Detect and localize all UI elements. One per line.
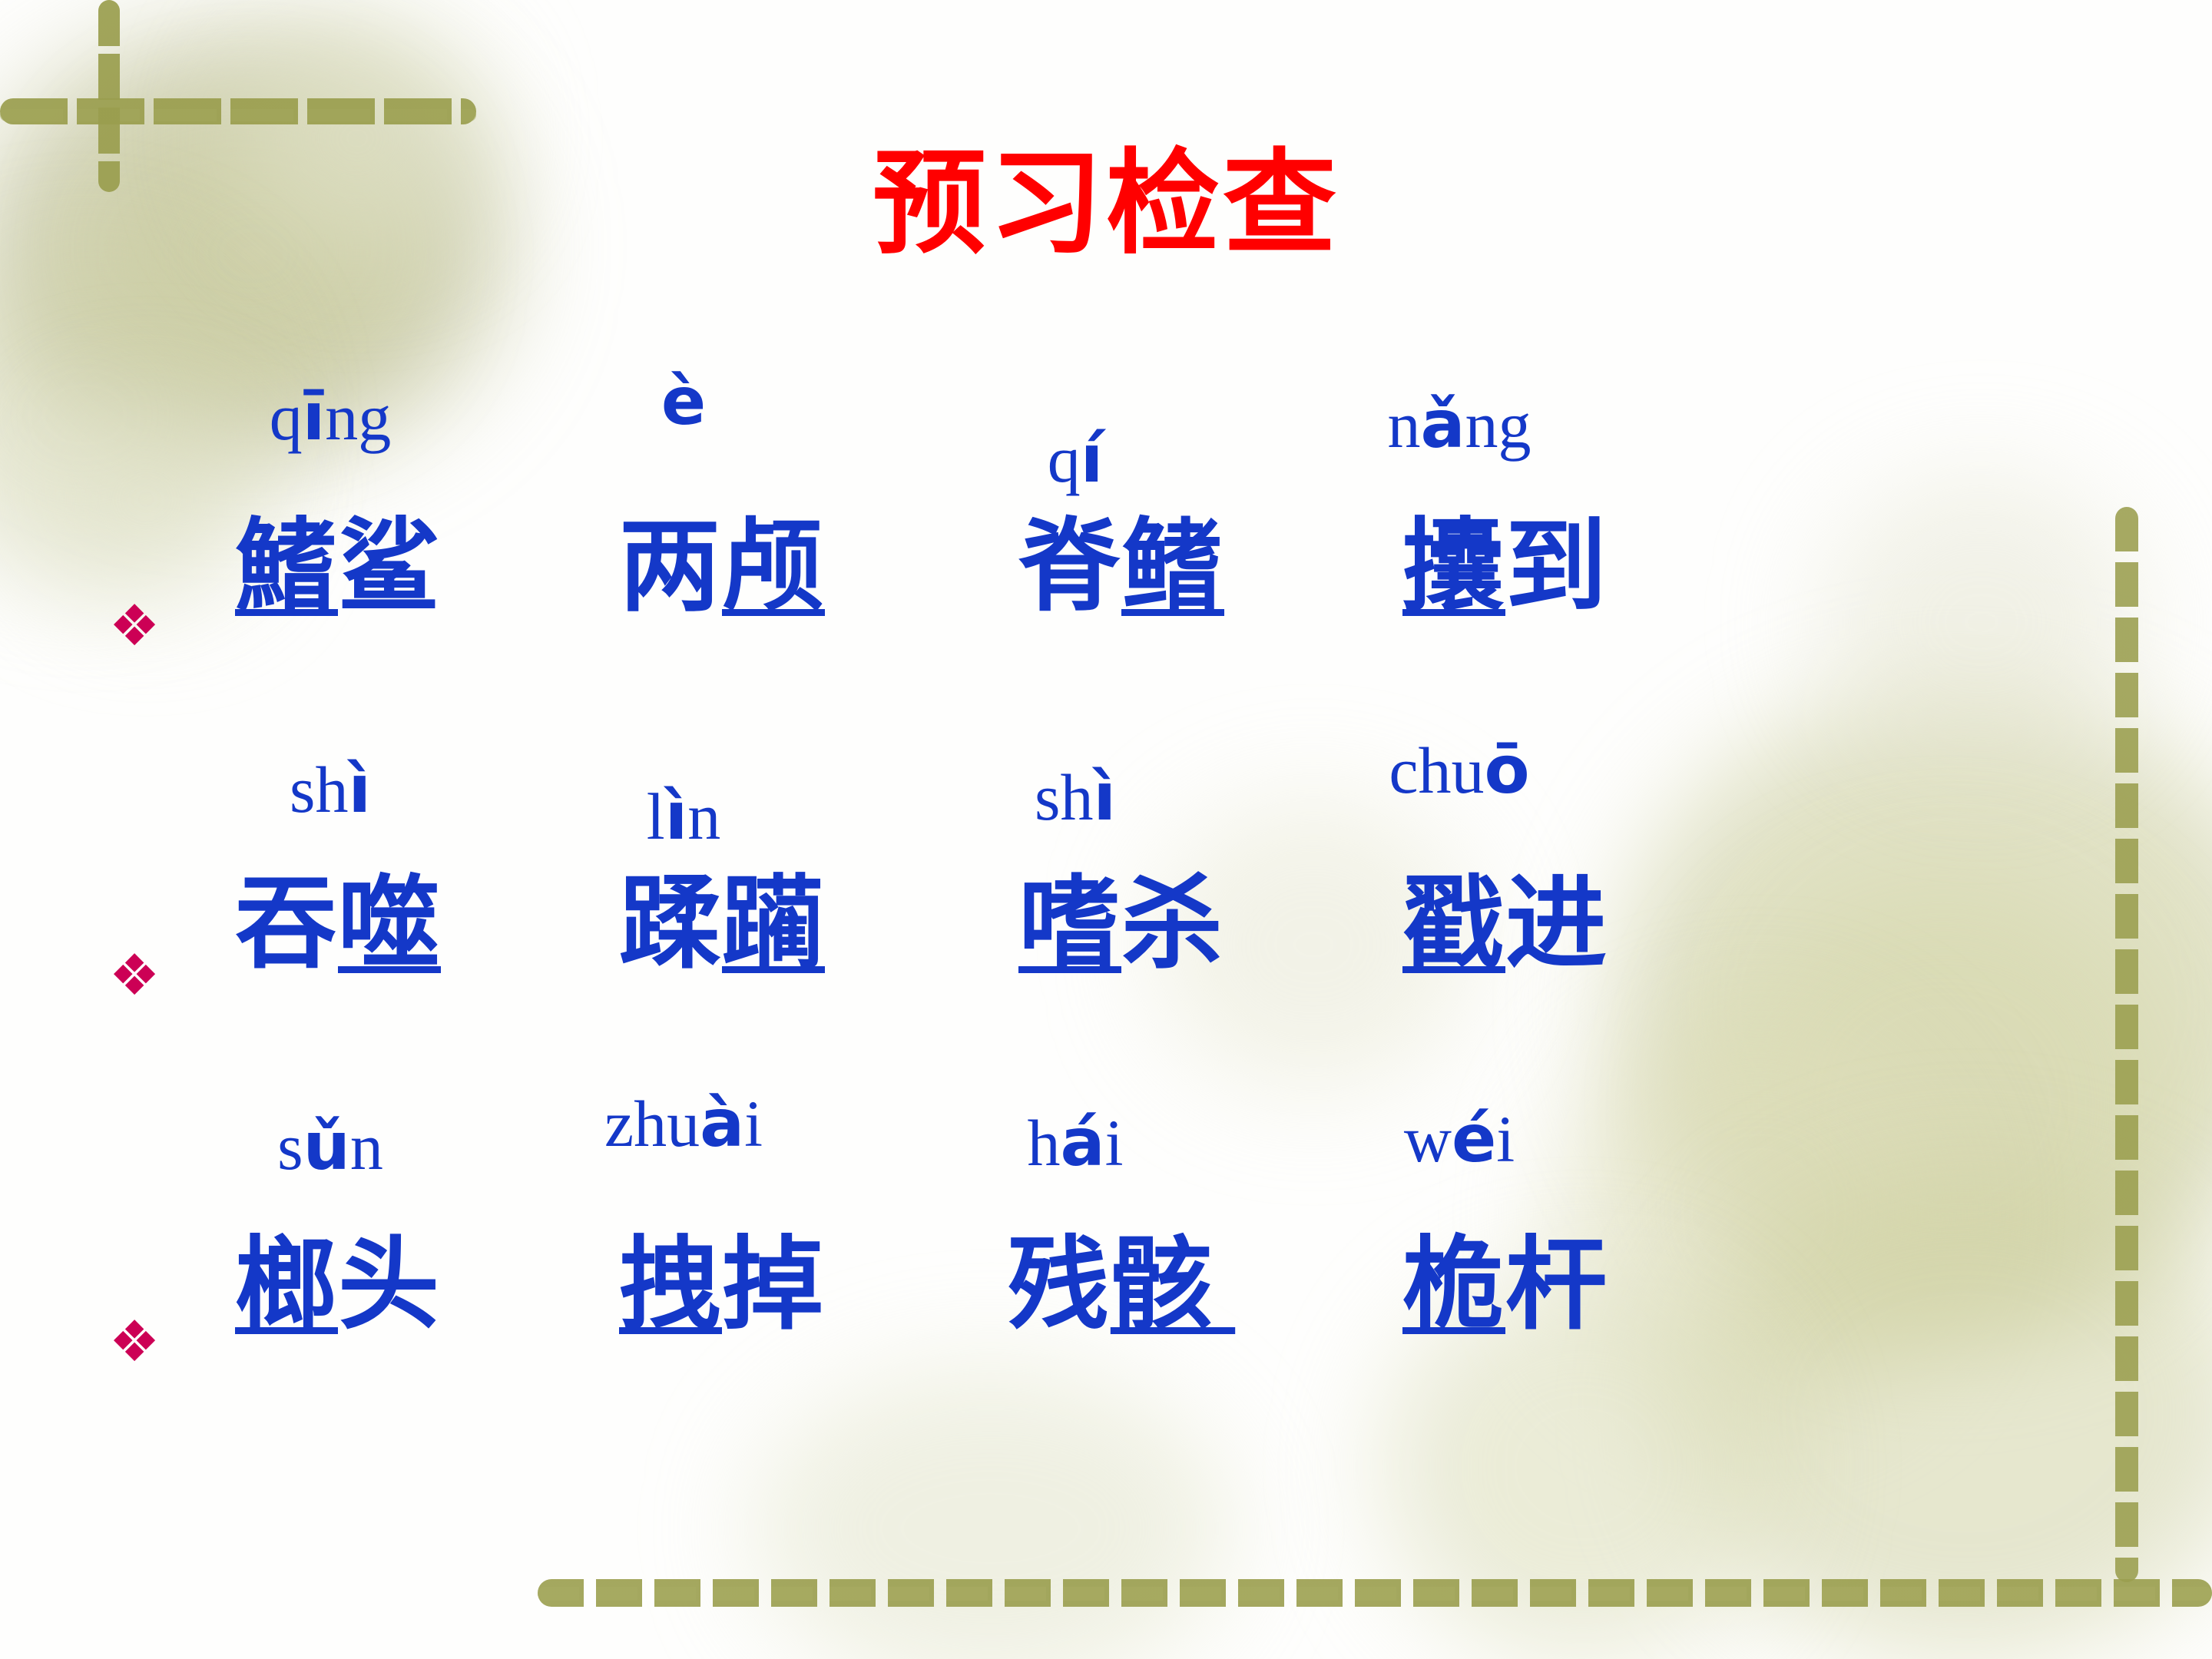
vocabulary-word: 攮到 <box>1336 516 1674 618</box>
underlined-character: 噬 <box>338 865 441 983</box>
underlined-character: 颅 <box>722 508 825 626</box>
pinyin-annotation: lìn <box>507 783 860 849</box>
vocabulary-word: 蹂躏 <box>553 873 891 975</box>
vocabulary-word: 吞噬 <box>169 873 507 975</box>
underlined-character: 鳍 <box>1121 508 1224 626</box>
vocabulary-word: 戳进 <box>1336 873 1674 975</box>
diamond-bullet-icon: ❖ <box>92 947 177 1004</box>
vocabulary-word: 鰭鲨 <box>169 516 507 618</box>
underlined-character: 戳 <box>1402 865 1505 983</box>
bamboo-border-top-horizontal <box>0 98 476 124</box>
vocabulary-word: 两颅 <box>553 516 891 618</box>
pinyin-annotation: sǔn <box>177 1114 484 1180</box>
pinyin-annotation: è <box>507 369 860 435</box>
slide-canvas: 预习检查 ❖qīng鰭鲨è两颅qí脊鳍nǎng攮到❖shì吞噬lìn蹂躏shì嗜… <box>0 0 2212 1659</box>
vocabulary-word: 榔头 <box>169 1234 507 1336</box>
underlined-character: 拽 <box>619 1226 722 1344</box>
vocabulary-word: 拽掉 <box>553 1234 891 1336</box>
underlined-character: 桅 <box>1402 1226 1505 1344</box>
pinyin-annotation: zhuài <box>507 1091 860 1157</box>
pinyin-annotation: hái <box>922 1110 1229 1176</box>
slide-title: 预习检查 <box>0 144 2212 263</box>
underlined-character: 榔 <box>235 1226 338 1344</box>
bamboo-border-right-vertical <box>2115 507 2138 1582</box>
diamond-bullet-icon: ❖ <box>92 598 177 654</box>
pinyin-annotation: shì <box>177 757 484 823</box>
vocabulary-row: ❖qīng鰭鲨è两颅qí脊鳍nǎng攮到 <box>92 384 1951 733</box>
diamond-bullet-icon: ❖ <box>92 1313 177 1370</box>
vocabulary-word: 残骸 <box>952 1234 1290 1336</box>
pinyin-annotation: wéi <box>1290 1106 1628 1172</box>
pinyin-annotation: chuō <box>1290 737 1628 803</box>
vocabulary-word: 嗜杀 <box>952 873 1290 975</box>
underlined-character: 骸 <box>1111 1226 1235 1344</box>
vocabulary-word: 桅杆 <box>1336 1234 1674 1336</box>
vocabulary-word: 脊鳍 <box>952 516 1290 618</box>
underlined-character: 鰭 <box>235 508 338 626</box>
vocabulary-grid: ❖qīng鰭鲨è两颅qí脊鳍nǎng攮到❖shì吞噬lìn蹂躏shì嗜杀chuō… <box>92 384 1951 1432</box>
pinyin-annotation: qīng <box>177 384 484 450</box>
vocabulary-row: ❖sǔn榔头zhuài拽掉hái残骸 wéi桅杆 <box>92 1083 1951 1432</box>
pinyin-annotation: qí <box>922 426 1229 492</box>
vocabulary-row: ❖shì吞噬lìn蹂躏shì嗜杀chuō戳进 <box>92 733 1951 1083</box>
underlined-character: 躏 <box>722 865 825 983</box>
underlined-character: 嗜 <box>1018 865 1121 983</box>
underlined-character: 攮 <box>1402 508 1505 626</box>
pinyin-annotation: shì <box>922 764 1229 830</box>
bamboo-border-bottom-horizontal <box>538 1579 2212 1607</box>
pinyin-annotation: nǎng <box>1290 392 1628 458</box>
